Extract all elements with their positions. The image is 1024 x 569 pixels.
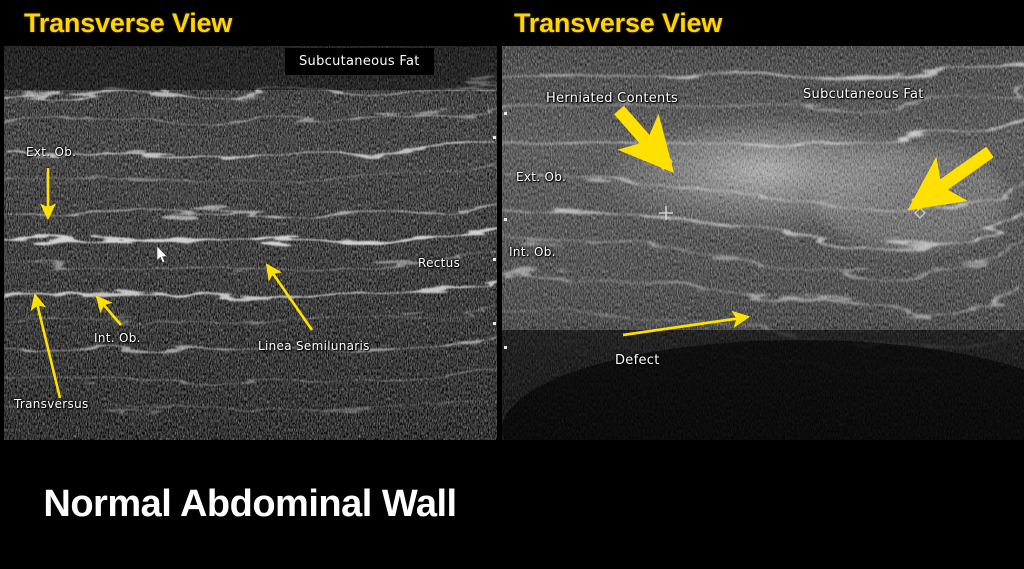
label-int-ob-right: Int. Ob.: [509, 245, 556, 259]
title-bar-right: Transverse View: [500, 0, 1024, 46]
label-subcutaneous-fat-right: Subcutaneous Fat: [803, 87, 924, 102]
mouse-cursor: [156, 246, 168, 264]
caliper-cross-left: [659, 206, 673, 220]
label-ext-ob-left: Ext. Ob.: [26, 145, 76, 159]
caliper-diamond-right: [915, 208, 925, 218]
caption-left: Normal Abdominal Wall: [0, 440, 500, 569]
label-transversus-left: Transversus: [14, 397, 89, 411]
caption-title-right: Spigelian Hernia: [1000, 448, 1024, 490]
label-defect: Defect: [615, 353, 660, 368]
label-herniated-contents: Herniated Contents: [546, 91, 678, 106]
label-int-ob-left: Int. Ob.: [94, 331, 141, 345]
panel-normal-abdominal-wall: Subcutaneous Fat Ext. Ob. Int. Ob. Trans…: [0, 0, 500, 569]
caption-title-left: Normal Abdominal Wall: [31, 484, 468, 524]
hernia-facts-list: Lower anterior abdominal wall hernia.Her…: [1000, 496, 1024, 549]
label-rectus-left: Rectus: [418, 256, 460, 270]
comparison-figure: Subcutaneous Fat Ext. Ob. Int. Ob. Trans…: [0, 0, 1024, 569]
title-text-left: Transverse View: [24, 10, 232, 37]
label-linea-semilunaris-left: Linea Semilunaris: [258, 339, 370, 353]
caption-right: Spigelian Hernia Lower anterior abdomina…: [1000, 440, 1024, 569]
label-ext-ob-right: Ext. Ob.: [516, 170, 566, 184]
label-subcutaneous-fat-left: Subcutaneous Fat: [285, 48, 434, 75]
panel-spigelian-hernia: Herniated Contents Subcutaneous Fat Ext.…: [500, 0, 1024, 569]
title-bar-left: Transverse View: [0, 0, 500, 46]
title-text-right: Transverse View: [514, 10, 722, 37]
